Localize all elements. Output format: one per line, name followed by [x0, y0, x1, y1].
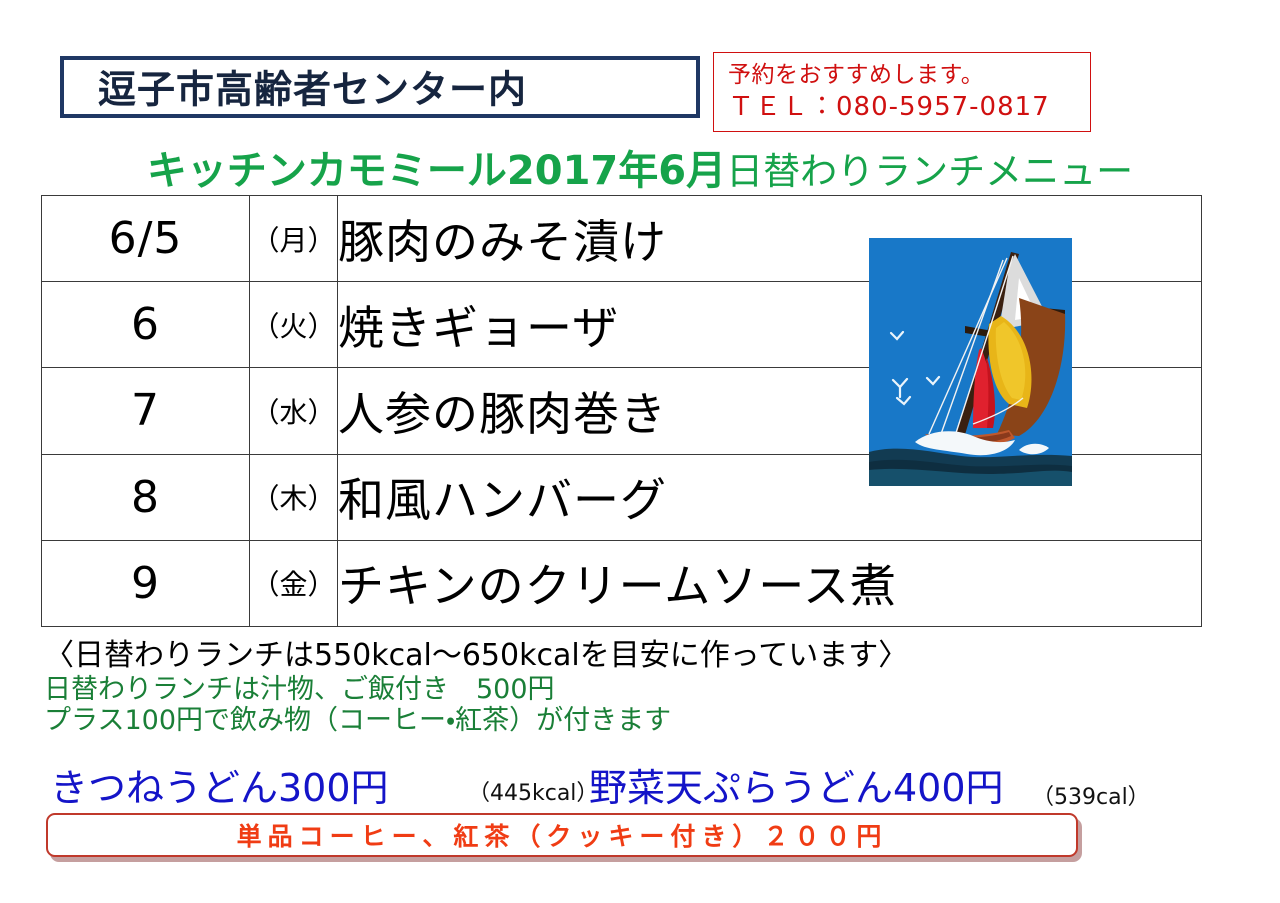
venue-title-box: 逗子市高齢者センター内 [60, 56, 700, 118]
reservation-note: 予約をおすすめします。 [728, 59, 1076, 91]
reservation-info-box: 予約をおすすめします。 ＴＥＬ：080-5957-0817 [713, 52, 1091, 132]
note-kcal-range: 〈日替わりランチは550kcal～650kcalを目安に作っています〉 [44, 638, 1244, 674]
menu-date: 6/5 [42, 196, 250, 282]
venue-title: 逗子市高齢者センター内 [98, 58, 527, 113]
coffee-tea-price-box: 単品コーヒー、紅茶（クッキー付き）２００円 [46, 813, 1078, 857]
menu-day-of-week: （金） [250, 540, 338, 626]
kitsune-udon-label: きつねうどん300円 [50, 757, 389, 812]
yasai-tempura-udon-calories: （539cal） [1032, 779, 1150, 811]
table-row: 9（金）チキンのクリームソース煮 [42, 540, 1202, 626]
menu-period: 2017年6月 [507, 148, 726, 194]
kitsune-udon-calories: （445kcal） [468, 775, 598, 807]
menu-heading: キッチンカモミール2017年6月日替わりランチメニュー [0, 138, 1280, 186]
note-lunch-price: 日替わりランチは汁物、ご飯付き 500円 [44, 674, 1244, 705]
yasai-tempura-udon-label: 野菜天ぷらうどん400円 [589, 757, 1004, 812]
sailboat-illustration [869, 238, 1072, 486]
note-drink-addon: プラス100円で飲み物（コーヒー・紅茶）が付きます [44, 705, 1244, 736]
menu-day-of-week: （木） [250, 454, 338, 540]
telephone-number: ＴＥＬ：080-5957-0817 [728, 91, 1076, 123]
menu-subtitle: 日替わりランチメニュー [726, 150, 1133, 193]
udon-price-line: きつねうどん300円 （445kcal） 野菜天ぷらうどん400円 （539ca… [44, 757, 1244, 807]
menu-date: 6 [42, 282, 250, 368]
menu-date: 9 [42, 540, 250, 626]
menu-day-of-week: （火） [250, 282, 338, 368]
coffee-tea-price-text: 単品コーヒー、紅茶（クッキー付き）２００円 [237, 817, 888, 853]
menu-day-of-week: （月） [250, 196, 338, 282]
menu-dish-name: チキンのクリームソース煮 [338, 540, 1202, 626]
shop-name: キッチンカモミール [147, 148, 507, 194]
header-area: 逗子市高齢者センター内 予約をおすすめします。 ＴＥＬ：080-5957-081… [0, 0, 1280, 135]
menu-day-of-week: （水） [250, 368, 338, 454]
menu-date: 7 [42, 368, 250, 454]
notes-block: 〈日替わりランチは550kcal～650kcalを目安に作っています〉 日替わり… [44, 638, 1244, 736]
menu-date: 8 [42, 454, 250, 540]
